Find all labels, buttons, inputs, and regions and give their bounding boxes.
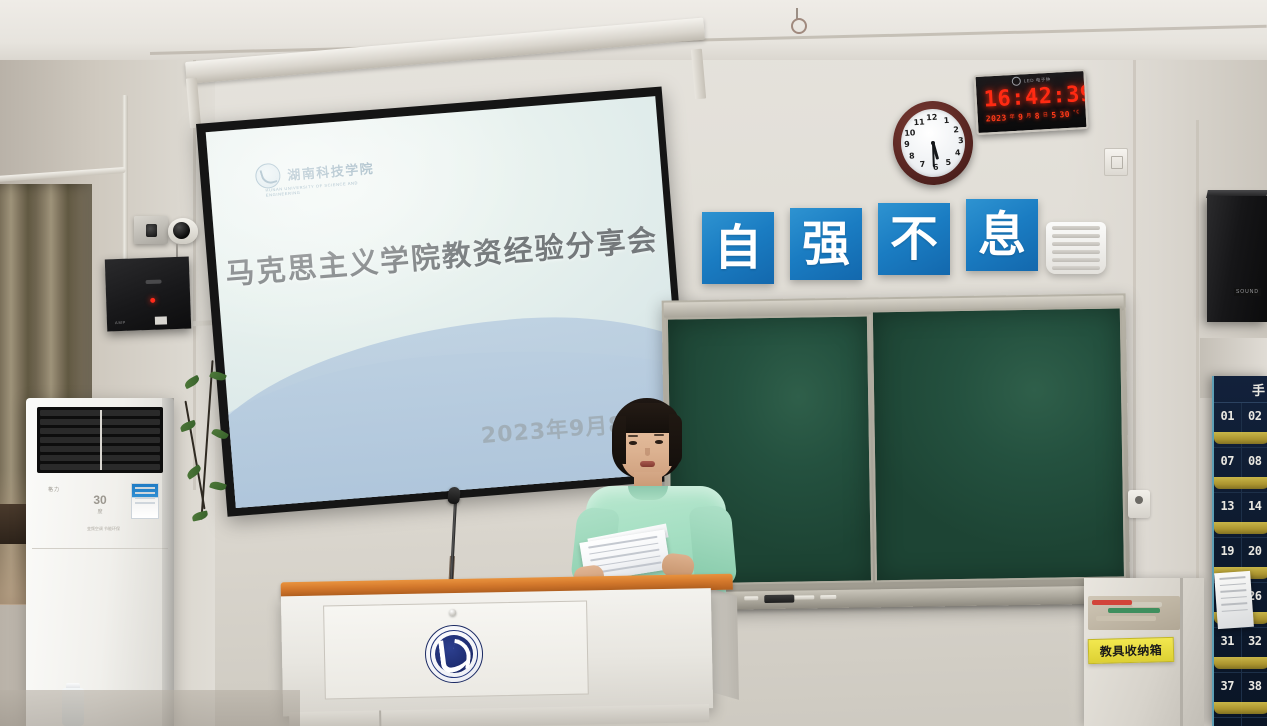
- dome-camera: [168, 218, 198, 244]
- presenter-eye-left: [629, 441, 637, 445]
- pocket-chart-papers: [1214, 571, 1254, 629]
- led-weekday: 5: [1051, 111, 1057, 120]
- led-date-month-unit: 月: [1026, 112, 1032, 121]
- phone-pocket-chart: 手 01 02 07 08 13 14 19 20 25 26 31 32: [1212, 376, 1267, 726]
- ac-side-shadow: [162, 398, 174, 726]
- amplifier-label: AMP: [115, 320, 126, 325]
- led-date-day-unit: 日: [1043, 111, 1049, 120]
- pocket-chart-row: 07 08: [1214, 448, 1267, 493]
- ac-grille-divider: [100, 410, 102, 470]
- floor-strip: [0, 690, 300, 726]
- ac-air-grille: [37, 407, 163, 473]
- clock-numeral: 3: [956, 136, 967, 147]
- wall-sensor: [1128, 490, 1150, 518]
- chalk-piece[interactable]: [744, 596, 758, 600]
- led-clock-time: 16:42:39: [983, 82, 1088, 113]
- wall-power-socket[interactable]: [1104, 148, 1128, 176]
- chalk-piece[interactable]: [820, 595, 836, 599]
- clock-numeral: 2: [951, 125, 962, 136]
- ac-energy-label: [131, 483, 159, 519]
- clock-numeral: 9: [902, 139, 913, 150]
- led-digital-clock: LED 电子钟 16:42:39 2023 年 9 月 8 日 5 30 °C: [973, 69, 1088, 135]
- lectern-podium: [281, 574, 736, 726]
- storage-box-sign: 教具收纳箱: [1088, 637, 1175, 664]
- ac-temperature-unit: 度: [86, 508, 114, 515]
- ac-display-badge: 30 度: [86, 494, 114, 528]
- wall-amplifier: AMP: [105, 257, 191, 332]
- cabinet-seam: [1180, 578, 1183, 726]
- speaker-brand-label: SOUND: [1234, 288, 1261, 296]
- podium-base-seam: [379, 710, 381, 726]
- pocket-chart-row: 37 38: [1214, 673, 1267, 718]
- amplifier-badge: [155, 316, 167, 324]
- presenter-hair-left: [614, 416, 626, 464]
- pocket-chart-header: 手: [1214, 376, 1267, 403]
- motto-panel-2: 强: [790, 208, 862, 280]
- clock-numeral: 4: [952, 148, 963, 159]
- led-date-year: 2023: [986, 113, 1007, 123]
- pocket-slot[interactable]: 44: [1242, 718, 1267, 726]
- led-date-day: 8: [1034, 112, 1040, 121]
- power-led-icon: [150, 298, 155, 303]
- clock-numeral: 5: [943, 158, 954, 169]
- ac-body-seam: [32, 548, 168, 549]
- wall-air-outlet: [1046, 222, 1106, 274]
- chalk-piece[interactable]: [794, 595, 814, 599]
- ac-brand-label: 格力: [48, 486, 60, 493]
- presenter-nose: [645, 448, 650, 456]
- motto-panel-1: 自: [702, 212, 774, 284]
- storage-box-sign-label: 教具收纳箱: [1100, 641, 1163, 660]
- pocket-chart-row: 01 02: [1214, 403, 1267, 448]
- camera-lens-icon: [146, 224, 157, 237]
- ac-temperature-value: 30: [86, 494, 114, 506]
- clock-numeral: 11: [913, 118, 924, 129]
- led-brand-text: LED 电子钟: [1024, 76, 1051, 83]
- amplifier-knob[interactable]: [146, 280, 162, 285]
- clock-numeral: 7: [917, 159, 928, 170]
- led-temperature-unit: °C: [1073, 109, 1080, 118]
- clock-numeral: 12: [926, 113, 937, 124]
- led-date-month: 9: [1018, 112, 1024, 121]
- institution-emblem-icon: [254, 162, 281, 189]
- dome-camera-lens-icon: [173, 222, 190, 239]
- teaching-aid-items: [1088, 596, 1180, 630]
- potted-plant: [176, 360, 246, 560]
- ac-feature-text: 变频空调 节能环保: [76, 526, 131, 532]
- ceiling-hook: [790, 8, 804, 30]
- clock-numeral: 10: [904, 128, 915, 139]
- pocket-slot[interactable]: 43: [1214, 718, 1242, 726]
- presenter-eyebrow-left: [628, 435, 638, 437]
- motto-panel-4: 息: [966, 199, 1038, 271]
- presenter-eye-right: [655, 440, 663, 444]
- blackboard-panel-right: [871, 306, 1126, 582]
- pocket-chart-row: 13 14: [1214, 493, 1267, 538]
- pocket-chart-row: 43 44: [1214, 718, 1267, 726]
- analog-clock-face: 12 1 2 3 4 5 6 7 8 9 10 11: [899, 107, 968, 179]
- presenter-mouth: [640, 461, 655, 467]
- microphone-head[interactable]: [447, 486, 461, 504]
- presenter-hair-right: [669, 414, 682, 466]
- podium-lock-knob[interactable]: [449, 609, 456, 616]
- security-camera: [134, 216, 168, 244]
- podium-side-panel: [709, 588, 739, 700]
- blackboard-eraser[interactable]: [764, 595, 794, 603]
- pocket-chart-row: 31 32: [1214, 628, 1267, 673]
- floor-air-conditioner: 格力 30 度 变频空调 节能环保: [26, 398, 174, 726]
- clock-numeral: 8: [907, 151, 918, 162]
- podium-front-body: [281, 588, 713, 716]
- motto-panel-3: 不: [878, 203, 950, 275]
- slide-title: 马克思主义学院教资经验分享会: [215, 216, 668, 294]
- led-temperature: 30: [1059, 110, 1070, 120]
- classroom-scene: 湖南科技学院 HUNAN UNIVERSITY OF SCIENCE AND E…: [0, 0, 1267, 726]
- presenter-eyebrow-right: [654, 434, 664, 436]
- wall-speaker-right: SOUND: [1207, 196, 1267, 322]
- led-date-year-unit: 年: [1009, 113, 1015, 122]
